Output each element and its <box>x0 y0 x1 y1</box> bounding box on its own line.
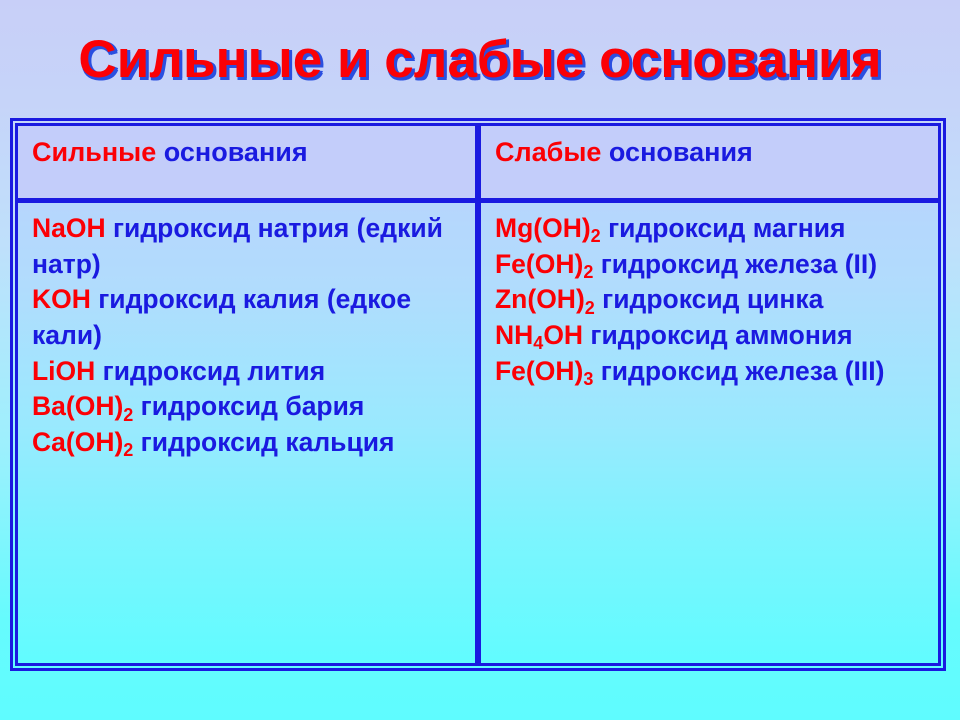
base-entry: Ba(OH)2 гидроксид бария <box>32 389 465 425</box>
header-weak-rest: основания <box>601 137 752 167</box>
chemical-formula: KOH <box>32 284 91 314</box>
body-cell-weak-bases: Mg(OH)2 гидроксид магнияFe(OH)2 гидрокси… <box>478 203 938 663</box>
formula-subscript: 2 <box>591 226 601 246</box>
formula-subscript: 2 <box>123 405 133 425</box>
chemical-formula: Zn(OH)2 <box>495 284 595 314</box>
compound-name: гидроксид бария <box>133 391 364 421</box>
base-entry: NH4OH гидроксид аммония <box>495 318 928 354</box>
base-entry: Mg(OH)2 гидроксид магния <box>495 211 928 247</box>
base-entry: Fe(OH)3 гидроксид железа (III) <box>495 354 928 390</box>
chemical-formula: Mg(OH)2 <box>495 213 601 243</box>
table-body-row: NaOH гидроксид натрия (едкий натр)KOH ги… <box>18 203 938 663</box>
header-strong-rest: основания <box>156 137 307 167</box>
table-header-row: Сильные основания Слабые основания <box>18 126 938 203</box>
compound-name: гидроксид железа (III) <box>593 356 884 386</box>
base-entry: Fe(OH)2 гидроксид железа (II) <box>495 247 928 283</box>
base-entry: NaOH гидроксид натрия (едкий натр) <box>32 211 465 282</box>
compound-name: гидроксид кальция <box>133 427 394 457</box>
header-label-weak: Слабые основания <box>495 138 928 168</box>
compound-name: гидроксид магния <box>601 213 846 243</box>
formula-subscript: 3 <box>583 369 593 389</box>
formula-subscript: 2 <box>583 262 593 282</box>
chemical-formula: Fe(OH)2 <box>495 249 593 279</box>
chemical-formula: NH4OH <box>495 320 583 350</box>
header-weak-word: Слабые <box>495 137 601 167</box>
compound-name: гидроксид лития <box>95 356 325 386</box>
header-strong-word: Сильные <box>32 137 156 167</box>
compound-name: гидроксид аммония <box>583 320 853 350</box>
formula-subscript: 2 <box>585 298 595 318</box>
title-bar: Сильные и слабые основания <box>0 0 960 118</box>
base-entry: KOH гидроксид калия (едкое кали) <box>32 282 465 353</box>
bases-table-inner: Сильные основания Слабые основания NaOH … <box>15 123 941 666</box>
base-entry: Zn(OH)2 гидроксид цинка <box>495 282 928 318</box>
page-title: Сильные и слабые основания <box>78 29 881 90</box>
formula-subscript: 4 <box>533 333 543 353</box>
chemical-formula: Ba(OH)2 <box>32 391 133 421</box>
chemical-formula: Fe(OH)3 <box>495 356 593 386</box>
header-label-strong: Сильные основания <box>32 138 465 168</box>
base-entry: LiOH гидроксид лития <box>32 354 465 390</box>
header-cell-weak-bases: Слабые основания <box>478 126 938 198</box>
compound-name: гидроксид железа (II) <box>593 249 877 279</box>
base-entry: Ca(OH)2 гидроксид кальция <box>32 425 465 461</box>
compound-name: гидроксид цинка <box>595 284 824 314</box>
header-cell-strong-bases: Сильные основания <box>18 126 478 198</box>
chemical-formula: Ca(OH)2 <box>32 427 133 457</box>
chemical-formula: LiOH <box>32 356 95 386</box>
bases-table: Сильные основания Слабые основания NaOH … <box>10 118 946 671</box>
chemical-formula: NaOH <box>32 213 106 243</box>
formula-subscript: 2 <box>123 440 133 460</box>
body-cell-strong-bases: NaOH гидроксид натрия (едкий натр)KOH ги… <box>18 203 478 663</box>
